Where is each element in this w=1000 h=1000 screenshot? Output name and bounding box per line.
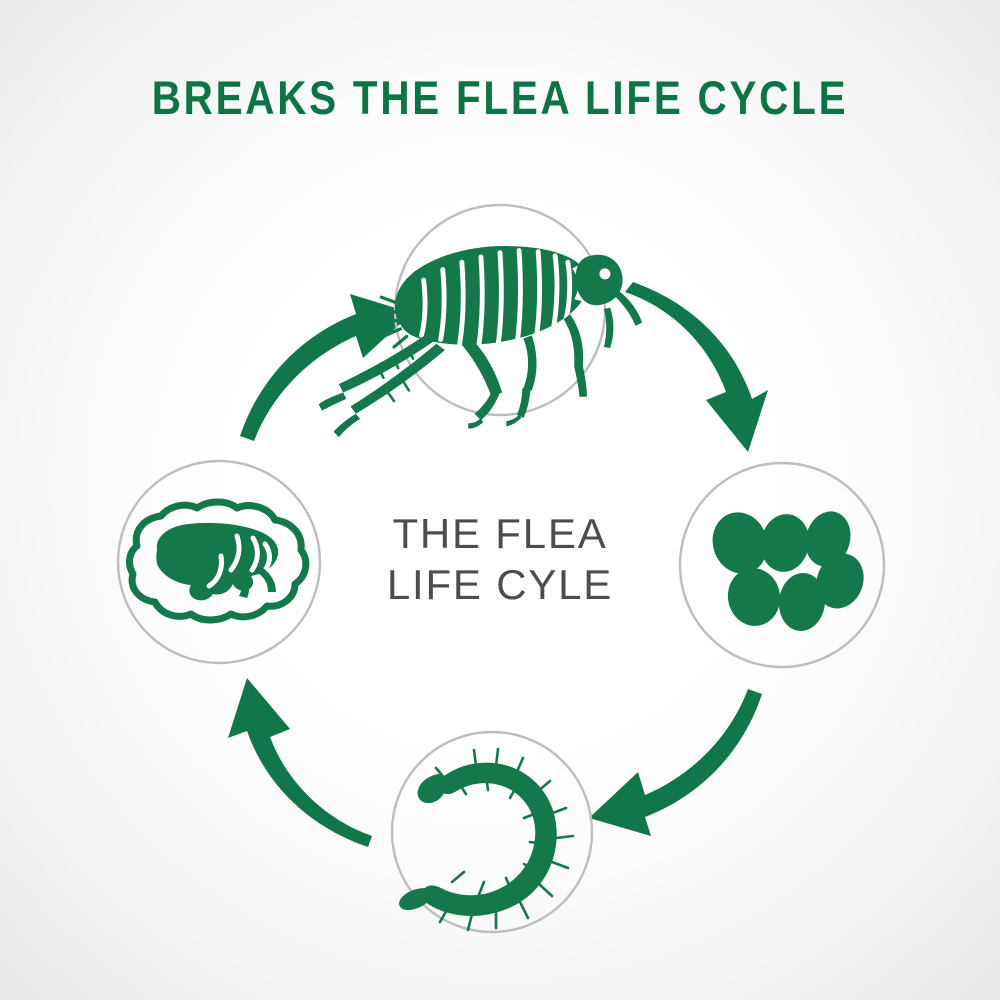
center-label: THE FLEA LIFE CYLE bbox=[310, 508, 690, 610]
arrow-adult-to-eggs bbox=[625, 282, 768, 452]
arrow-eggs-to-larva bbox=[589, 689, 762, 836]
center-label-line2: LIFE CYLE bbox=[310, 559, 690, 610]
arrow-larva-to-pupa bbox=[228, 678, 372, 847]
cycle-diagram bbox=[0, 0, 1000, 1000]
center-label-line1: THE FLEA bbox=[310, 508, 690, 559]
pupa-icon bbox=[130, 502, 306, 620]
eggs-icon bbox=[705, 505, 871, 633]
infographic-canvas: BREAKS THE FLEA LIFE CYCLE bbox=[0, 0, 1000, 1000]
larva-icon bbox=[399, 749, 573, 930]
